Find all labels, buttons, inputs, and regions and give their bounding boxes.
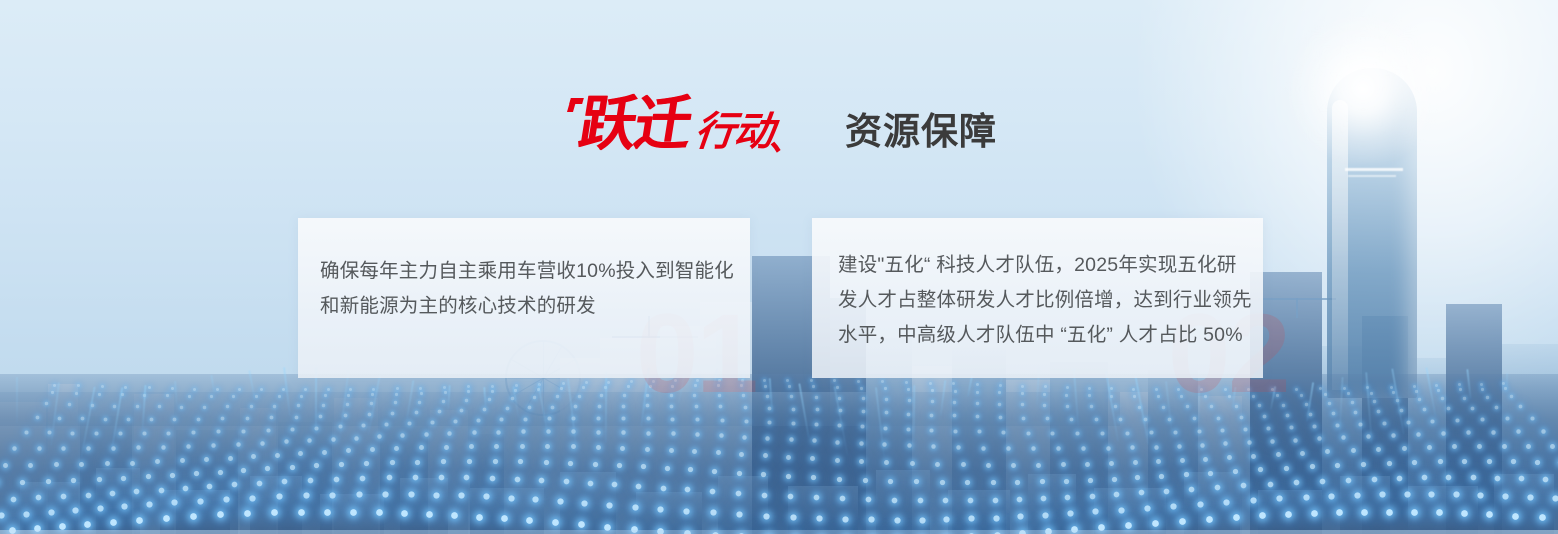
logo-sub-text: 行动	[693, 112, 775, 152]
title-row: 跃迁 行动 、 资源保障	[566, 96, 997, 152]
card-02-text: 建设"五化“ 科技人才队伍，2025年实现五化研 发人才占整体研发人才比例倍增，…	[838, 248, 1252, 353]
dot-network-overlay	[0, 359, 1558, 534]
tower-band	[1345, 168, 1403, 171]
sun-glow	[1288, 14, 1438, 164]
logo-comma-mark: 、	[768, 126, 808, 152]
slide-canvas: 01 02 跃迁 行动 、 资源保障 确保每年主力自主乘用车营收10%投入到智能…	[0, 0, 1558, 534]
logo-main-text: 跃迁	[561, 94, 694, 153]
campaign-logo: 跃迁 行动 、	[566, 96, 805, 152]
content-card-01: 确保每年主力自主乘用车营收10%投入到智能化 和新能源为主的核心技术的研发	[298, 218, 750, 378]
bottom-edge-line	[0, 530, 1558, 534]
page-title: 资源保障	[845, 112, 997, 152]
tower-band-secondary	[1348, 175, 1396, 177]
card-01-text: 确保每年主力自主乘用车营收10%投入到智能化 和新能源为主的核心技术的研发	[320, 254, 740, 324]
content-card-02: 建设"五化“ 科技人才队伍，2025年实现五化研 发人才占整体研发人才比例倍增，…	[812, 218, 1263, 378]
